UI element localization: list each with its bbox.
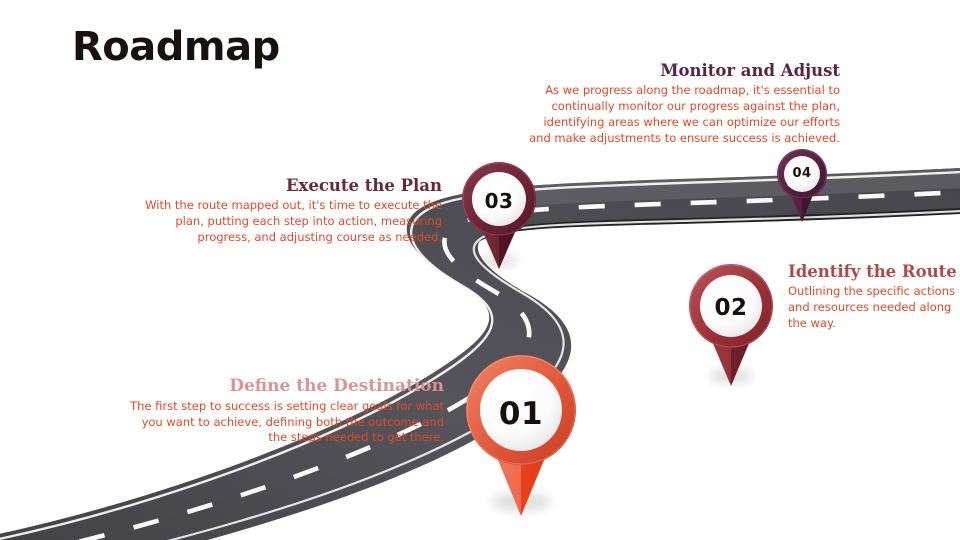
step-body-03: With the route mapped out, it's time to … (120, 198, 442, 246)
map-pin-03-number: 03 (455, 189, 543, 213)
roadmap-infographic: Roadmap Monitor and Adjust As we progres… (0, 0, 960, 540)
map-pin-04[interactable]: 04 (773, 148, 831, 224)
step-text-block-04: Monitor and Adjust As we progress along … (520, 62, 840, 147)
step-body-04: As we progress along the roadmap, it's e… (520, 83, 840, 146)
page-title: Roadmap (72, 24, 280, 70)
map-pin-02-number: 02 (681, 295, 781, 321)
step-body-02: Outlining the specific actions and resou… (788, 284, 956, 332)
map-pin-02[interactable]: 02 (681, 262, 781, 390)
step-heading-03: Execute the Plan (120, 177, 442, 195)
map-pin-04-number: 04 (773, 166, 831, 181)
step-body-01: The first step to success is setting cle… (128, 399, 444, 447)
step-text-block-01: Define the Destination The first step to… (128, 377, 444, 446)
step-text-block-02: Identify the Route Outlining the specifi… (788, 263, 956, 332)
step-heading-02: Identify the Route (788, 263, 956, 281)
step-heading-01: Define the Destination (128, 377, 444, 396)
step-heading-04: Monitor and Adjust (520, 62, 840, 80)
map-pin-01-number: 01 (455, 396, 587, 432)
map-pin-03[interactable]: 03 (455, 161, 543, 273)
map-pin-01[interactable]: 01 (455, 352, 587, 520)
step-text-block-03: Execute the Plan With the route mapped o… (120, 177, 442, 246)
